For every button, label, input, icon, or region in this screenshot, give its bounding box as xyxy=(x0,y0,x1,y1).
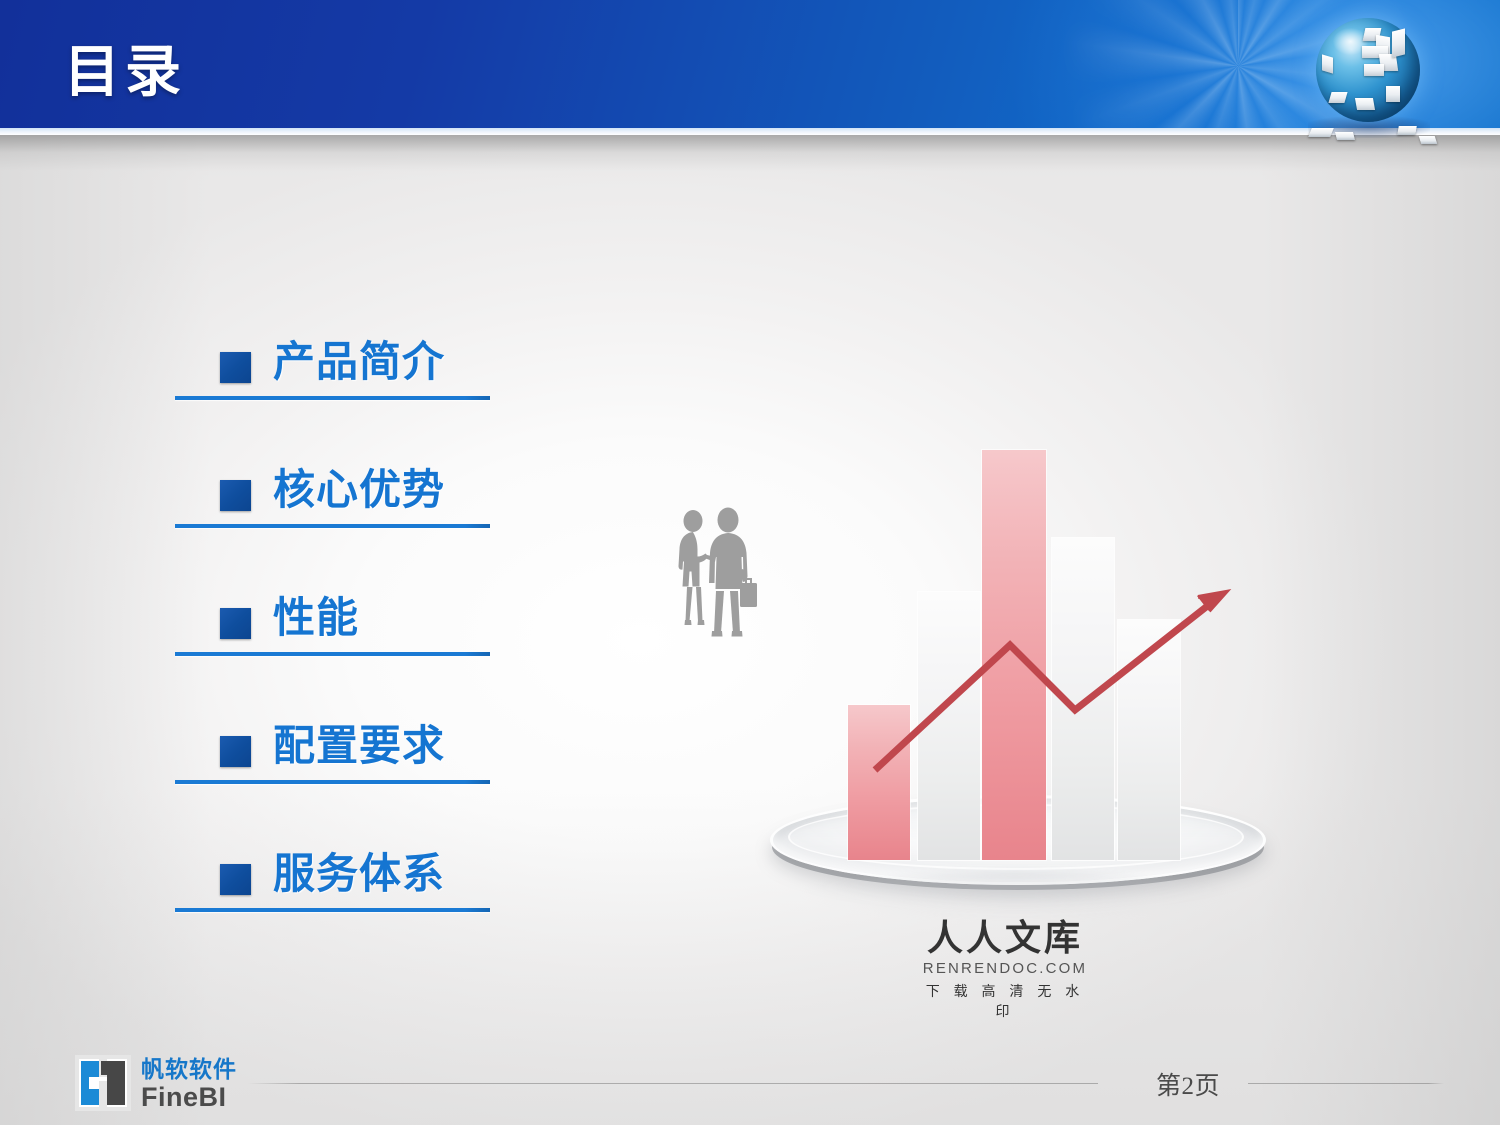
menu-item-label: 产品简介 xyxy=(273,336,445,389)
watermark-url: RENRENDOC.COM xyxy=(920,960,1090,977)
logo-chinese-name: 帆软软件 xyxy=(141,1057,237,1082)
bullet-square-icon xyxy=(220,864,251,895)
slide-header: 目录 xyxy=(0,0,1500,128)
menu-item-underline xyxy=(175,524,490,528)
business-people-silhouette-icon xyxy=(662,505,772,645)
watermark-title: 人人文库 xyxy=(920,920,1090,958)
brand-logo: 帆软软件 FineBI xyxy=(75,1053,315,1115)
logo-english-name: FineBI xyxy=(141,1083,237,1111)
globe-loose-shard xyxy=(1335,132,1355,140)
menu-item-5[interactable]: 服务体系 xyxy=(175,842,505,970)
menu-item-underline xyxy=(175,780,490,784)
page-title: 目录 xyxy=(64,44,186,100)
globe-puzzle-piece xyxy=(1328,92,1347,103)
menu-item-underline xyxy=(175,908,490,912)
logo-wordmark: 帆软软件 FineBI xyxy=(141,1057,237,1112)
globe-puzzle-piece xyxy=(1392,28,1405,57)
header-accent-strip xyxy=(0,128,1500,135)
globe-puzzle-piece xyxy=(1386,86,1400,102)
menu-item-1[interactable]: 产品简介 xyxy=(175,330,505,458)
menu-item-3[interactable]: 性能 xyxy=(175,586,505,714)
globe-puzzle-piece xyxy=(1322,54,1333,73)
globe-puzzle-piece xyxy=(1364,64,1384,76)
menu-item-label: 核心优势 xyxy=(273,464,445,517)
watermark: 人人文库 RENRENDOC.COM 下 载 高 清 无 水 印 xyxy=(920,920,1090,1021)
globe-loose-shard xyxy=(1308,128,1334,137)
bullet-square-icon xyxy=(220,352,251,383)
header-drop-shadow xyxy=(0,135,1500,181)
globe-loose-shard xyxy=(1397,126,1417,135)
watermark-subtitle: 下 载 高 清 无 水 印 xyxy=(920,981,1090,1021)
menu-item-4[interactable]: 配置要求 xyxy=(175,714,505,842)
bar-chart-illustration xyxy=(760,420,1280,940)
slide-canvas: 目录 产品简介 核心优势 xyxy=(0,0,1500,1125)
menu-item-2[interactable]: 核心优势 xyxy=(175,458,505,586)
menu-item-label: 服务体系 xyxy=(273,848,445,901)
bullet-square-icon xyxy=(220,736,251,767)
agenda-menu: 产品简介 核心优势 性能 配置要求 服务体系 xyxy=(175,330,505,970)
bullet-square-icon xyxy=(220,608,251,639)
footer-divider-right xyxy=(1248,1083,1444,1084)
menu-item-label: 性能 xyxy=(273,592,359,645)
menu-item-label: 配置要求 xyxy=(273,720,445,773)
bullet-square-icon xyxy=(220,480,251,511)
finebi-logo-icon xyxy=(75,1055,131,1111)
globe-puzzle-piece xyxy=(1355,98,1375,110)
page-number: 第2页 xyxy=(1156,1066,1220,1102)
globe-loose-shard xyxy=(1419,136,1438,144)
growth-arrow-icon xyxy=(760,420,1280,940)
menu-item-underline xyxy=(175,652,490,656)
globe-icon xyxy=(1302,12,1434,144)
footer-divider-left xyxy=(248,1083,1098,1084)
menu-item-underline xyxy=(175,396,490,400)
